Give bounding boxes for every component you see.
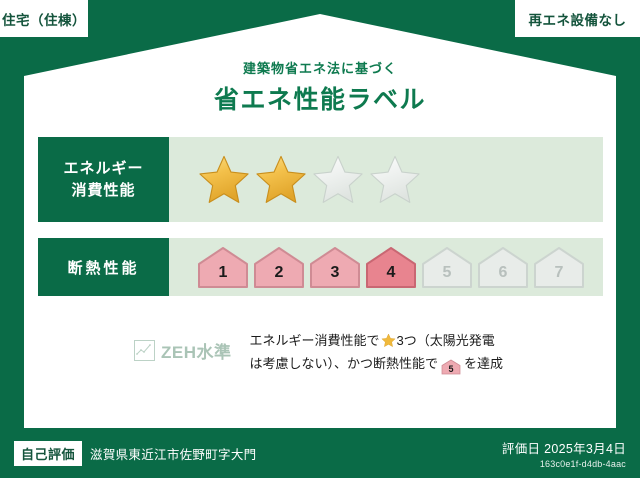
insulation-grade-3: 3 bbox=[309, 245, 361, 289]
self-evaluation-badge: 自己評価 bbox=[14, 441, 82, 466]
footer-right-group: 評価日 2025年3月4日 163c0e1f-d4db-4aac bbox=[502, 438, 640, 469]
energy-key-line2: 消費性能 bbox=[71, 180, 135, 202]
note-line2-prefix: は考慮しない）、かつ断熱性能で bbox=[250, 356, 439, 371]
insulation-grade-4: 4 bbox=[365, 245, 417, 289]
building-type-tab: 住宅（住棟） bbox=[0, 0, 88, 37]
zeh-standard-mark: ZEH水準 bbox=[38, 330, 232, 363]
energy-consumption-value bbox=[169, 137, 603, 222]
energy-consumption-row: エネルギー 消費性能 bbox=[38, 137, 603, 222]
star-4-empty bbox=[368, 154, 422, 206]
insulation-performance-row: 断熱性能 1234567 bbox=[38, 238, 603, 296]
insulation-value: 1234567 bbox=[169, 238, 603, 296]
insulation-key-label: 断熱性能 bbox=[67, 257, 139, 278]
achievement-note-line1: エネルギー消費性能で3つ（太陽光発電 bbox=[250, 330, 604, 353]
evaluation-id: 163c0e1f-d4db-4aac bbox=[502, 459, 626, 469]
insulation-grade-value: 6 bbox=[499, 264, 508, 289]
achievement-note: エネルギー消費性能で3つ（太陽光発電 は考慮しない）、かつ断熱性能で5を達成 bbox=[232, 330, 604, 376]
note-line1-prefix: エネルギー消費性能で bbox=[250, 333, 380, 348]
insulation-grade-value: 5 bbox=[443, 264, 452, 289]
renewable-energy-tab: 再エネ設備なし bbox=[515, 0, 640, 37]
insulation-grade-scale: 1234567 bbox=[197, 245, 585, 289]
note-line2-suffix: を達成 bbox=[464, 356, 503, 371]
renewable-energy-label: 再エネ設備なし bbox=[529, 9, 627, 29]
star-1-filled bbox=[197, 154, 251, 206]
insulation-grade-6: 6 bbox=[477, 245, 529, 289]
achievement-note-line2: は考慮しない）、かつ断熱性能で5を達成 bbox=[250, 353, 604, 376]
star-2-filled bbox=[254, 154, 308, 206]
insulation-grade-5: 5 bbox=[421, 245, 473, 289]
footer-left-group: 自己評価 滋賀県東近江市佐野町字大門 bbox=[0, 441, 256, 466]
insulation-grade-value: 3 bbox=[331, 264, 340, 289]
zeh-standard-label: ZEH水準 bbox=[161, 338, 232, 363]
star-3-empty bbox=[311, 154, 365, 206]
inline-grade-badge: 5 bbox=[441, 359, 461, 375]
label-subtitle: 建築物省エネ法に基づく bbox=[0, 58, 640, 77]
insulation-grade-value: 1 bbox=[219, 264, 228, 289]
energy-key-line1: エネルギー bbox=[63, 158, 143, 180]
insulation-key: 断熱性能 bbox=[38, 238, 169, 296]
evaluation-date: 評価日 2025年3月4日 bbox=[502, 438, 626, 457]
note-line1-suffix: 3つ（太陽光発電 bbox=[397, 333, 495, 348]
energy-consumption-key: エネルギー 消費性能 bbox=[38, 137, 169, 222]
insulation-grade-7: 7 bbox=[533, 245, 585, 289]
label-title: 省エネ性能ラベル bbox=[0, 80, 640, 116]
insulation-grade-value: 4 bbox=[387, 264, 396, 289]
inline-star-icon bbox=[381, 333, 396, 348]
insulation-grade-value: 2 bbox=[275, 264, 284, 289]
inline-grade-value: 5 bbox=[441, 359, 461, 379]
label-footer: 自己評価 滋賀県東近江市佐野町字大門 評価日 2025年3月4日 163c0e1… bbox=[0, 428, 640, 478]
energy-performance-label: 住宅（住棟） 再エネ設備なし 建築物省エネ法に基づく 省エネ性能ラベル エネルギ… bbox=[0, 0, 640, 478]
note-area: ZEH水準 エネルギー消費性能で3つ（太陽光発電 は考慮しない）、かつ断熱性能で… bbox=[38, 330, 603, 392]
zeh-chart-icon bbox=[134, 340, 155, 361]
insulation-grade-value: 7 bbox=[555, 264, 564, 289]
insulation-grade-2: 2 bbox=[253, 245, 305, 289]
insulation-grade-1: 1 bbox=[197, 245, 249, 289]
star-rating bbox=[197, 154, 422, 206]
building-type-label: 住宅（住棟） bbox=[2, 9, 86, 29]
property-address: 滋賀県東近江市佐野町字大門 bbox=[90, 444, 256, 463]
